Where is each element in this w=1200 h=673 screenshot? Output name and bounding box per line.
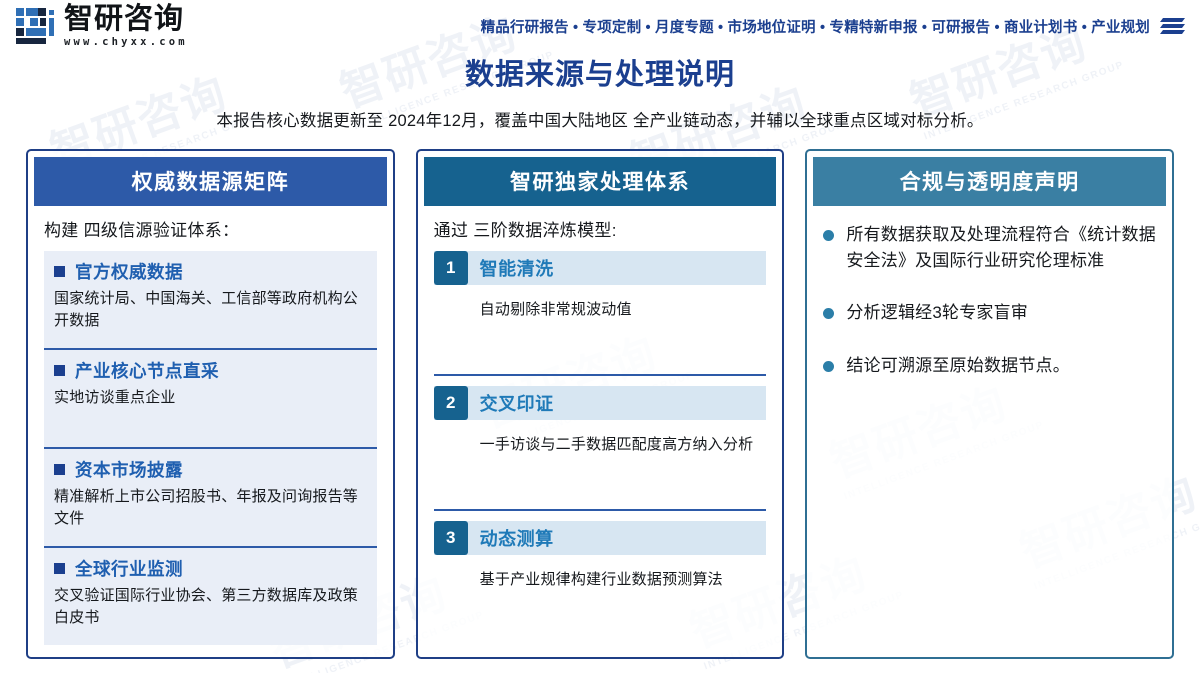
brand-logo[interactable]: 智研咨询 www.chyxx.com — [16, 4, 188, 48]
card-body-compliance-statement: 所有数据获取及处理流程符合《统计数据安全法》及国际行业研究伦理标准 分析逻辑经3… — [813, 206, 1166, 649]
dot-bullet-icon — [823, 230, 834, 241]
brand-name: 智研咨询 — [64, 4, 188, 33]
note-text: 结论可溯源至原始数据节点。 — [846, 353, 1070, 379]
note-text: 分析逻辑经3轮专家盲审 — [846, 300, 1028, 326]
zhiyan-logo-mark-icon — [16, 8, 56, 44]
note-text: 所有数据获取及处理流程符合《统计数据安全法》及国际行业研究伦理标准 — [846, 222, 1156, 275]
dot-bullet-icon — [823, 308, 834, 319]
card-processing-system: 智研独家处理体系 通过 三阶数据淬炼模型: 1 智能清洗 自动剔除非常规波动值 … — [416, 149, 785, 659]
list-item[interactable]: 分析逻辑经3轮专家盲审 — [823, 300, 1156, 326]
step-desc: 一手访谈与二手数据匹配度高方纳入分析 — [480, 434, 767, 456]
card-compliance-statement: 合规与透明度声明 所有数据获取及处理流程符合《统计数据安全法》及国际行业研究伦理… — [805, 149, 1174, 659]
card-lead-data-sources: 构建 四级信源验证体系： — [44, 216, 377, 241]
square-bullet-icon — [54, 563, 65, 574]
card-title-processing-system: 智研独家处理体系 — [424, 157, 777, 206]
source-desc: 交叉验证国际行业协会、第三方数据库及政策白皮书 — [54, 585, 367, 629]
source-desc: 精准解析上市公司招股书、年报及问询报告等文件 — [54, 486, 367, 530]
page-subtitle: 本报告核心数据更新至 2024年12月，覆盖中国大陆地区 全产业链动态，并辅以全… — [0, 107, 1200, 131]
brand-tagline: 精品行研报告 • 专项定制 • 月度专题 • 市场地位证明 • 专精特新申报 •… — [481, 16, 1150, 37]
square-bullet-icon — [54, 365, 65, 376]
step-header: 3 动态测算 — [434, 521, 767, 555]
source-title: 全球行业监测 — [75, 556, 183, 581]
step-desc: 基于产业规律构建行业数据预测算法 — [480, 569, 767, 591]
step-desc: 自动剔除非常规波动值 — [480, 299, 767, 321]
square-bullet-icon — [54, 464, 65, 475]
cards-row: 权威数据源矩阵 构建 四级信源验证体系： 官方权威数据 国家统计局、中国海关、工… — [0, 131, 1200, 659]
source-title: 官方权威数据 — [75, 259, 183, 284]
card-title-compliance-statement: 合规与透明度声明 — [813, 157, 1166, 206]
list-item[interactable]: 所有数据获取及处理流程符合《统计数据安全法》及国际行业研究伦理标准 — [823, 222, 1156, 275]
title-block: 数据来源与处理说明 本报告核心数据更新至 2024年12月，覆盖中国大陆地区 全… — [0, 52, 1200, 131]
dot-bullet-icon — [823, 361, 834, 372]
page-title: 数据来源与处理说明 — [0, 58, 1200, 93]
brand-logo-text: 智研咨询 www.chyxx.com — [64, 4, 188, 48]
page-root: 智研咨询 INTELLIGENCE RESEARCH GROUP 智研咨询 IN… — [0, 0, 1200, 673]
source-title-row: 产业核心节点直采 — [54, 358, 367, 383]
step-number-badge: 3 — [434, 521, 468, 555]
tagline-group: 精品行研报告 • 专项定制 • 月度专题 • 市场地位证明 • 专精特新申报 •… — [481, 15, 1186, 37]
source-title-row: 官方权威数据 — [54, 259, 367, 284]
source-title: 资本市场披露 — [75, 457, 183, 482]
card-body-processing-system: 通过 三阶数据淬炼模型: 1 智能清洗 自动剔除非常规波动值 2 交叉印证 — [424, 206, 777, 649]
card-lead-processing-system: 通过 三阶数据淬炼模型: — [434, 216, 767, 241]
top-bar: 智研咨询 www.chyxx.com 精品行研报告 • 专项定制 • 月度专题 … — [0, 0, 1200, 52]
step-header: 1 智能清洗 — [434, 251, 767, 285]
process-step-list: 1 智能清洗 自动剔除非常规波动值 2 交叉印证 一手访谈与二手数据匹配度高方纳… — [434, 251, 767, 645]
list-item[interactable]: 全球行业监测 交叉验证国际行业协会、第三方数据库及政策白皮书 — [44, 546, 377, 645]
source-title-row: 全球行业监测 — [54, 556, 367, 581]
card-body-data-sources: 构建 四级信源验证体系： 官方权威数据 国家统计局、中国海关、工信部等政府机构公… — [34, 206, 387, 649]
list-item[interactable]: 2 交叉印证 一手访谈与二手数据匹配度高方纳入分析 — [434, 374, 767, 509]
brand-url: www.chyxx.com — [64, 36, 188, 48]
step-name: 动态测算 — [480, 521, 554, 555]
step-number-badge: 2 — [434, 386, 468, 420]
source-title-row: 资本市场披露 — [54, 457, 367, 482]
list-item[interactable]: 资本市场披露 精准解析上市公司招股书、年报及问询报告等文件 — [44, 447, 377, 546]
source-desc: 国家统计局、中国海关、工信部等政府机构公开数据 — [54, 288, 367, 332]
card-data-sources: 权威数据源矩阵 构建 四级信源验证体系： 官方权威数据 国家统计局、中国海关、工… — [26, 149, 395, 659]
square-bullet-icon — [54, 266, 65, 277]
list-item[interactable]: 1 智能清洗 自动剔除非常规波动值 — [434, 251, 767, 374]
source-title: 产业核心节点直采 — [75, 358, 219, 383]
compliance-note-list: 所有数据获取及处理流程符合《统计数据安全法》及国际行业研究伦理标准 分析逻辑经3… — [823, 216, 1156, 379]
list-item[interactable]: 3 动态测算 基于产业规律构建行业数据预测算法 — [434, 509, 767, 644]
source-desc: 实地访谈重点企业 — [54, 387, 367, 409]
step-name: 智能清洗 — [480, 251, 554, 285]
data-source-list: 官方权威数据 国家统计局、中国海关、工信部等政府机构公开数据 产业核心节点直采 … — [44, 251, 377, 645]
list-item[interactable]: 结论可溯源至原始数据节点。 — [823, 353, 1156, 379]
step-name: 交叉印证 — [480, 386, 554, 420]
card-title-data-sources: 权威数据源矩阵 — [34, 157, 387, 206]
list-item[interactable]: 官方权威数据 国家统计局、中国海关、工信部等政府机构公开数据 — [44, 251, 377, 348]
step-header: 2 交叉印证 — [434, 386, 767, 420]
step-number-badge: 1 — [434, 251, 468, 285]
list-item[interactable]: 产业核心节点直采 实地访谈重点企业 — [44, 348, 377, 447]
stacked-stripes-icon — [1160, 15, 1186, 37]
